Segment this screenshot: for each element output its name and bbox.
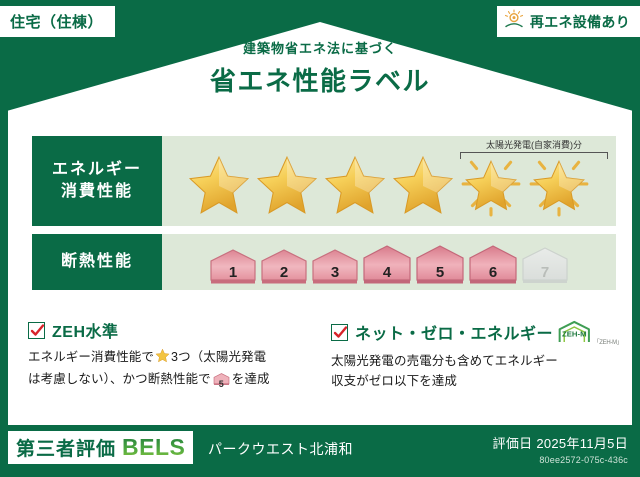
house-level-number: 1 [208,264,258,281]
inline-star-icon [155,348,170,369]
criterion-zeh-header: ZEH水準 [28,318,317,342]
bels-label-jp: 第三者評価 [16,434,116,461]
evaluation-date: 評価日 2025年11月5日 [493,433,628,452]
house-level-number: 5 [414,264,466,281]
criterion-net-zero-energy: ネット・ゼロ・エネルギー ZEH-M 「ZEH-M」 太陽光発電の売電分も含めて… [331,318,620,393]
footer: 第三者評価 BELS パークウエスト北浦和 評価日 2025年11月5日 80e… [0,425,640,477]
svg-text:ZEH-M: ZEH-M [562,330,587,339]
energy-label-root: 住宅（住棟） 再エネ設備あり 建築物省エネ法に基づく 省エネ性能ラベル [0,0,640,477]
energy-stars-area: 太陽光発電(自家消費)分 [162,136,616,226]
zeh-m-logo: ZEH-M 「ZEH-M」 [556,318,620,346]
house-level-icon: 6 [467,243,519,290]
criterion-zeh-title: ZEH水準 [52,318,119,342]
zeh-m-caption: 「ZEH-M」 [594,337,620,346]
energy-performance-label: エネルギー 消費性能 [32,136,162,226]
page-title: 省エネ性能ラベル [0,61,640,98]
criterion-zeh-description: エネルギー消費性能で3つ（太陽光発電は考慮しない）、かつ断熱性能で5を達成 [28,347,317,393]
star-icon-solar [526,152,592,218]
insulation-levels-area: 1 2 3 [162,234,616,290]
insulation-performance-label: 断熱性能 [32,234,162,290]
solar-sun-icon [503,9,525,34]
house-level-icon-inactive: 7 [520,245,570,290]
inline-house-number: 5 [213,377,230,392]
performance-rows: エネルギー 消費性能 太陽光発電(自家消費)分 [32,136,616,298]
inline-house-icon: 5 [213,372,230,392]
bels-badge: 第三者評価 BELS [8,431,193,464]
criterion-nze-header: ネット・ゼロ・エネルギー ZEH-M 「ZEH-M」 [331,318,620,346]
house-level-number: 3 [310,264,360,281]
star-icon [254,152,320,218]
house-level-icon: 5 [414,243,466,290]
insulation-level-scale: 1 2 3 [162,234,616,290]
criterion-zeh: ZEH水準 エネルギー消費性能で3つ（太陽光発電は考慮しない）、かつ断熱性能で5… [28,318,317,393]
house-level-icon: 2 [259,247,309,290]
title-subtitle: 建築物省エネ法に基づく [0,38,640,57]
house-level-number: 6 [467,264,519,281]
zeh-checkbox[interactable] [28,322,45,339]
house-level-number: 4 [361,264,413,281]
title-block: 建築物省エネ法に基づく 省エネ性能ラベル [0,38,640,98]
evaluation-id: 80ee2572-075c-436c [493,455,628,465]
evaluation-info: 評価日 2025年11月5日 80ee2572-075c-436c [493,433,628,465]
house-level-icon: 3 [310,247,360,290]
nze-checkbox[interactable] [331,324,348,341]
house-level-number: 2 [259,264,309,281]
star-icon [390,152,456,218]
criterion-nze-title: ネット・ゼロ・エネルギー [355,320,553,344]
house-level-number: 7 [520,264,570,281]
star-rating [162,136,616,226]
bels-label-en: BELS [122,434,185,461]
renewable-badge-label: 再エネ設備あり [530,12,630,32]
renewable-equipment-badge: 再エネ設備あり [497,6,640,37]
criterion-nze-description: 太陽光発電の売電分も含めてエネルギー収支がゼロ以下を達成 [331,351,620,392]
check-icon [30,323,45,338]
house-level-icon: 4 [361,243,413,290]
building-name: パークウエスト北浦和 [208,439,353,459]
energy-performance-row: エネルギー 消費性能 太陽光発電(自家消費)分 [32,136,616,226]
house-level-icon: 1 [208,247,258,290]
check-icon [333,325,348,340]
category-badge: 住宅（住棟） [0,6,115,37]
star-icon-solar [458,152,524,218]
criteria-section: ZEH水準 エネルギー消費性能で3つ（太陽光発電は考慮しない）、かつ断熱性能で5… [28,318,620,393]
star-icon [186,152,252,218]
insulation-performance-row: 断熱性能 1 [32,234,616,290]
star-icon [322,152,388,218]
